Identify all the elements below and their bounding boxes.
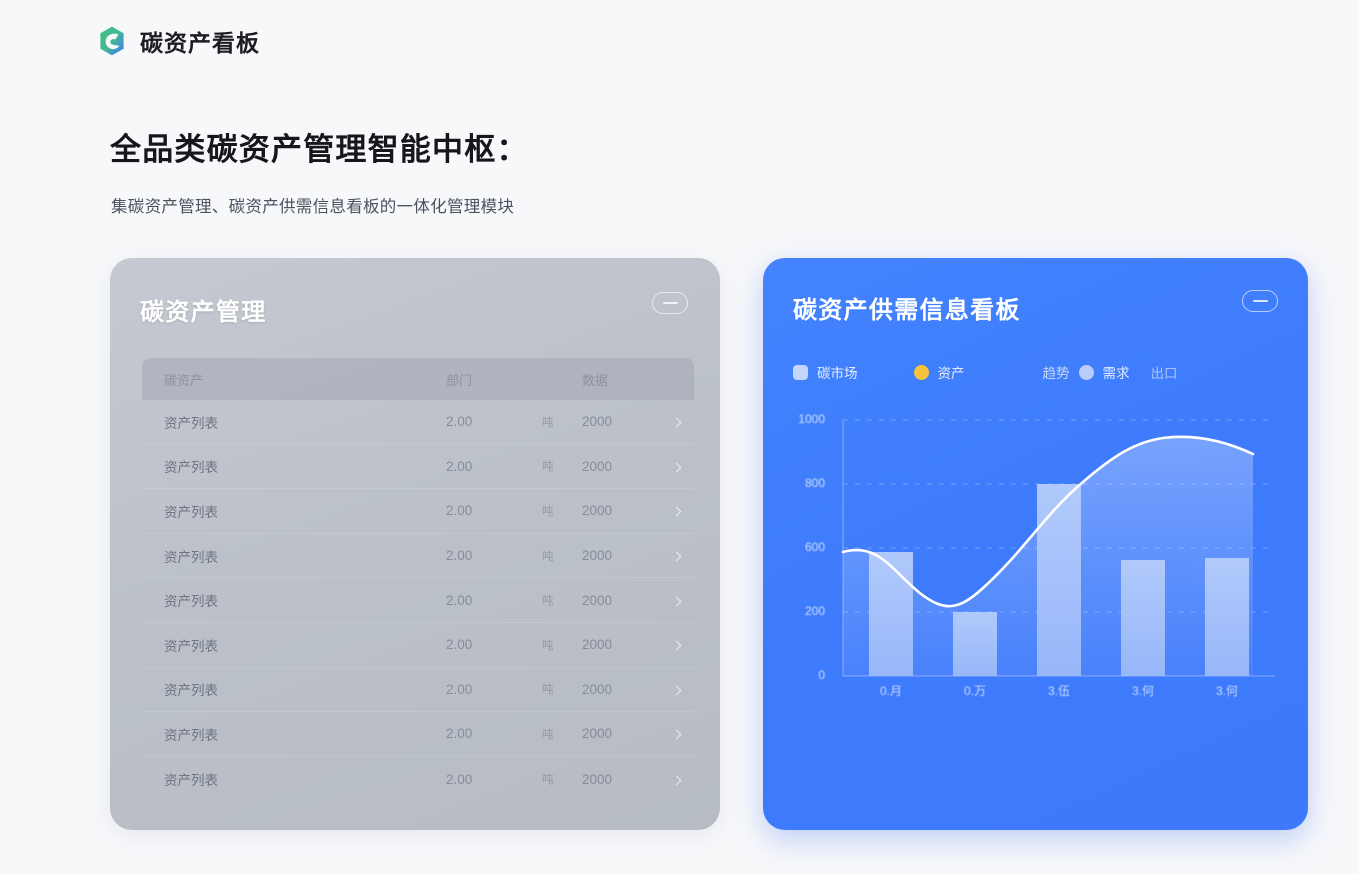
cell-dept: 2.00 (446, 593, 542, 608)
card-header: 碳资产管理 (110, 258, 720, 327)
chart-bar (1037, 484, 1081, 676)
card-supply-demand-board[interactable]: 碳资产供需信息看板 碳市场 资产 趋势 需求 出口 1000 800 60 (763, 258, 1308, 830)
cell-dept: 2.00 (446, 772, 542, 787)
card-title: 碳资产管理 (140, 292, 267, 327)
x-axis-tick: 0.万 (943, 682, 1007, 699)
minimize-pill-icon[interactable] (1242, 290, 1278, 312)
chevron-right-icon[interactable] (654, 637, 680, 652)
cell-unit: 吨 (542, 592, 582, 608)
module-cards: 碳资产管理 碳资产 部门 数据 资产列表 2.00 吨 2000 资产列表 2.… (110, 258, 1308, 830)
page-title: 全品类碳资产管理智能中枢： (110, 124, 529, 169)
card-title: 碳资产供需信息看板 (793, 290, 1021, 325)
cell-dept: 2.00 (446, 682, 542, 697)
cell-name: 资产列表 (164, 590, 446, 610)
page-subtitle: 集碳资产管理、碳资产供需信息看板的一体化管理模块 (111, 193, 514, 217)
carbon-leaf-logo-icon (96, 25, 128, 57)
chevron-right-icon[interactable] (654, 726, 680, 741)
cell-name: 资产列表 (164, 456, 446, 476)
table-row[interactable]: 资产列表 2.00 吨 2000 (142, 578, 694, 623)
legend-label: 需求 (1103, 362, 1130, 382)
x-axis-tick: 3.何 (1195, 682, 1259, 699)
column-header-value: 数据 (582, 370, 654, 389)
cell-dept: 2.00 (446, 459, 542, 474)
chart-bar (869, 552, 913, 676)
card-carbon-asset-management[interactable]: 碳资产管理 碳资产 部门 数据 资产列表 2.00 吨 2000 资产列表 2.… (110, 258, 720, 830)
table-row[interactable]: 资产列表 2.00 吨 2000 (142, 623, 694, 668)
chart-bar (953, 612, 997, 676)
legend-item-market[interactable]: 碳市场 (793, 362, 858, 382)
chart-bar (1205, 558, 1249, 676)
cell-unit: 吨 (542, 414, 582, 430)
chevron-right-icon[interactable] (654, 593, 680, 608)
chevron-right-icon[interactable] (654, 682, 680, 697)
cell-dept: 2.00 (446, 726, 542, 741)
x-axis-tick: 3.伍 (1027, 682, 1091, 699)
column-header-dept: 部门 (446, 370, 542, 389)
legend-suffix-label: 出口 (1151, 362, 1178, 382)
minimize-pill-icon[interactable] (652, 292, 688, 314)
chevron-right-icon[interactable] (654, 503, 680, 518)
column-header-name: 碳资产 (164, 370, 446, 389)
cell-value: 2000 (582, 637, 654, 652)
cell-name: 资产列表 (164, 769, 446, 789)
cell-value: 2000 (582, 548, 654, 563)
brand-name: 碳资产看板 (140, 24, 260, 58)
cell-name: 资产列表 (164, 724, 446, 744)
table-row[interactable]: 资产列表 2.00 吨 2000 (142, 712, 694, 757)
legend-swatch-circle-icon (1079, 365, 1094, 380)
y-axis-tick: 800 (779, 476, 825, 490)
cell-dept: 2.00 (446, 414, 542, 429)
y-axis-tick: 1000 (779, 412, 825, 426)
chevron-right-icon[interactable] (654, 414, 680, 429)
table-header-row: 碳资产 部门 数据 (142, 358, 694, 400)
chevron-right-icon[interactable] (654, 548, 680, 563)
cell-dept: 2.00 (446, 503, 542, 518)
table-row[interactable]: 资产列表 2.00 吨 2000 (142, 489, 694, 534)
y-axis-tick: 200 (779, 604, 825, 618)
table-row[interactable]: 资产列表 2.00 吨 2000 (142, 445, 694, 490)
chart-canvas (783, 410, 1283, 710)
table-row[interactable]: 资产列表 2.00 吨 2000 (142, 534, 694, 579)
brand-bar: 碳资产看板 (96, 24, 260, 58)
cell-unit: 吨 (542, 637, 582, 653)
cell-dept: 2.00 (446, 637, 542, 652)
cell-unit: 吨 (542, 681, 582, 697)
legend-swatch-circle-icon (914, 365, 929, 380)
asset-table: 碳资产 部门 数据 资产列表 2.00 吨 2000 资产列表 2.00 吨 2… (142, 358, 694, 801)
cell-name: 资产列表 (164, 679, 446, 699)
chevron-right-icon[interactable] (654, 772, 680, 787)
cell-value: 2000 (582, 414, 654, 429)
cell-name: 资产列表 (164, 412, 446, 432)
cell-value: 2000 (582, 726, 654, 741)
table-row[interactable]: 资产列表 2.00 吨 2000 (142, 668, 694, 713)
chart-bar (1121, 560, 1165, 676)
table-row[interactable]: 资产列表 2.00 吨 2000 (142, 400, 694, 445)
y-axis-tick: 0 (779, 668, 825, 682)
chart-legend: 碳市场 资产 趋势 需求 出口 (793, 362, 1280, 382)
cell-value: 2000 (582, 503, 654, 518)
cell-dept: 2.00 (446, 548, 542, 563)
legend-swatch-square-icon (793, 365, 808, 380)
cell-value: 2000 (582, 682, 654, 697)
supply-demand-chart[interactable]: 1000 800 600 200 0 (783, 410, 1284, 730)
cell-name: 资产列表 (164, 635, 446, 655)
card-header: 碳资产供需信息看板 (763, 258, 1308, 325)
x-axis-tick: 3.何 (1111, 682, 1175, 699)
cell-value: 2000 (582, 459, 654, 474)
cell-unit: 吨 (542, 548, 582, 564)
cell-unit: 吨 (542, 458, 582, 474)
cell-value: 2000 (582, 772, 654, 787)
cell-unit: 吨 (542, 726, 582, 742)
cell-unit: 吨 (542, 771, 582, 787)
legend-prefix-label: 趋势 (1043, 362, 1070, 382)
chevron-right-icon[interactable] (654, 459, 680, 474)
cell-value: 2000 (582, 593, 654, 608)
legend-item-asset[interactable]: 资产 (914, 362, 965, 382)
y-axis-tick: 600 (779, 540, 825, 554)
legend-item-demand[interactable]: 趋势 需求 出口 (1021, 362, 1178, 382)
x-axis-tick: 0.月 (859, 682, 923, 699)
cell-name: 资产列表 (164, 546, 446, 566)
legend-label: 资产 (938, 362, 965, 382)
table-row[interactable]: 资产列表 2.00 吨 2000 (142, 757, 694, 802)
cell-unit: 吨 (542, 503, 582, 519)
legend-label: 碳市场 (817, 362, 858, 382)
cell-name: 资产列表 (164, 501, 446, 521)
